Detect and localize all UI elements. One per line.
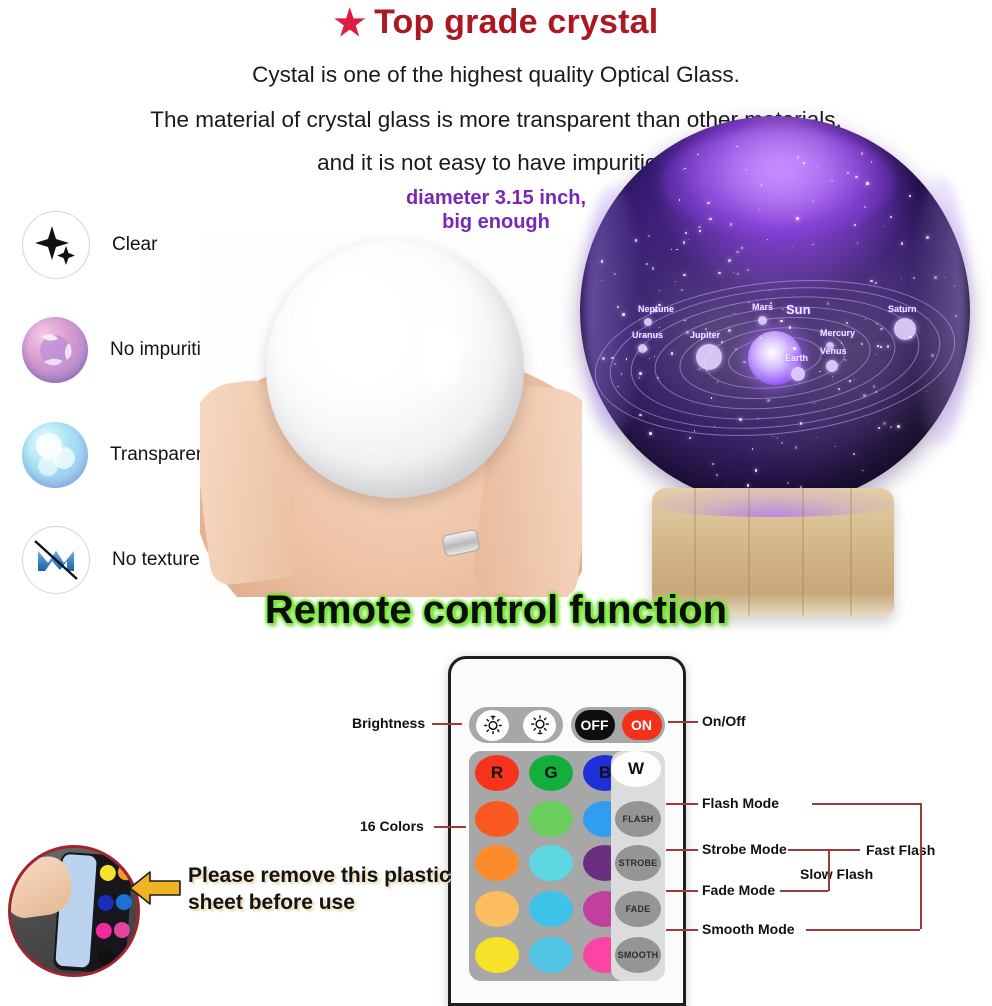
- star-speck: [797, 156, 799, 158]
- bracket-fast-bottom: [806, 929, 920, 931]
- star-speck: [688, 239, 689, 240]
- star-speck: [649, 432, 652, 435]
- star-speck: [676, 249, 678, 251]
- ball-highlight: [296, 258, 424, 402]
- star-speck: [711, 397, 712, 398]
- star-speck: [712, 463, 714, 465]
- on-button[interactable]: ON: [622, 710, 662, 740]
- purity-orb-icon: [22, 317, 88, 383]
- mode-button-smooth[interactable]: SMOOTH: [615, 937, 661, 973]
- plastic-warning-text: Please remove this plastic sheet before …: [188, 862, 488, 916]
- star-speck: [873, 385, 876, 388]
- callout-leader: [666, 890, 698, 892]
- star-speck: [857, 242, 858, 243]
- star-speck: [698, 226, 701, 229]
- star-speck: [772, 436, 773, 437]
- callout-leader: [668, 721, 698, 723]
- page-title-text: Top grade crystal: [374, 3, 658, 41]
- star-speck: [767, 399, 769, 401]
- star-speck: [671, 352, 673, 354]
- photo-color-dot: [97, 894, 114, 911]
- planet-label-earth: Earth: [785, 353, 808, 363]
- star-speck: [736, 251, 738, 253]
- star-speck: [855, 176, 857, 178]
- star-speck: [755, 469, 758, 472]
- headline-line-1: Cystal is one of the highest quality Opt…: [0, 62, 992, 88]
- color-swatch[interactable]: [529, 801, 573, 837]
- star-speck: [883, 422, 886, 425]
- ball-top-glow: [662, 128, 894, 236]
- planet-label-venus: Venus: [820, 346, 847, 356]
- callout-brightness: Brightness: [352, 715, 425, 731]
- star-speck: [748, 302, 750, 304]
- star-speck: [622, 313, 625, 316]
- star-speck: [926, 236, 928, 238]
- star-speck: [728, 259, 731, 262]
- callout-16-colors: 16 Colors: [360, 818, 424, 834]
- star-speck: [705, 328, 707, 330]
- off-button[interactable]: OFF: [575, 710, 615, 740]
- star-speck: [901, 242, 904, 245]
- base-led-glow: [652, 488, 894, 517]
- star-speck: [777, 437, 778, 438]
- star-speck: [800, 422, 802, 424]
- star-speck: [752, 448, 753, 449]
- star-speck: [803, 162, 804, 163]
- star-speck: [870, 280, 873, 283]
- color-pad: RGB: [469, 751, 631, 981]
- star-speck: [683, 274, 686, 277]
- star-speck: [718, 272, 720, 274]
- planet-dot: [644, 318, 652, 326]
- star-speck: [897, 425, 900, 428]
- callout-leader: [434, 826, 466, 828]
- brightness-pad: [469, 707, 563, 743]
- star-speck: [714, 426, 715, 427]
- star-speck: [827, 302, 830, 305]
- callout-flash-mode: Flash Mode: [702, 795, 779, 811]
- star-speck: [909, 195, 911, 197]
- color-button-g[interactable]: G: [529, 755, 573, 791]
- star-speck: [835, 446, 836, 447]
- star-speck: [767, 239, 768, 240]
- star-speck: [685, 232, 687, 234]
- mode-button-strobe[interactable]: STROBE: [615, 845, 661, 881]
- star-speck: [796, 217, 798, 219]
- bracket-fast-vert: [920, 803, 922, 929]
- star-speck: [611, 357, 613, 359]
- color-swatch[interactable]: [475, 937, 519, 973]
- star-speck: [675, 281, 676, 282]
- star-speck: [865, 319, 866, 320]
- mode-button-flash[interactable]: FLASH: [615, 801, 661, 837]
- star-speck: [617, 386, 618, 387]
- callout-leader: [666, 929, 698, 931]
- star-speck: [704, 359, 706, 361]
- star-speck: [747, 484, 749, 486]
- color-swatch[interactable]: [529, 937, 573, 973]
- star-speck: [795, 446, 797, 448]
- star-speck: [812, 244, 814, 246]
- color-swatch[interactable]: [529, 891, 573, 927]
- star-speck: [716, 474, 718, 476]
- star-speck: [880, 346, 882, 348]
- star-speck: [780, 320, 783, 323]
- star-speck: [861, 152, 864, 155]
- star-speck: [770, 302, 771, 303]
- star-speck: [736, 146, 738, 148]
- star-speck: [659, 290, 660, 291]
- star-speck: [890, 216, 892, 218]
- star-speck: [854, 224, 856, 226]
- callout-slow-flash: Slow Flash: [800, 866, 873, 882]
- star-speck: [734, 313, 736, 315]
- star-speck: [954, 285, 956, 287]
- star-speck: [862, 470, 864, 472]
- star-speck: [766, 298, 767, 299]
- star-speck: [853, 453, 855, 455]
- color-swatch[interactable]: [529, 845, 573, 881]
- plastic-sheet-photo: [8, 845, 140, 977]
- brightness-down-icon[interactable]: [523, 710, 556, 741]
- star-speck: [789, 326, 791, 328]
- star-speck: [931, 354, 934, 357]
- star-speck: [683, 241, 686, 244]
- star-speck: [901, 278, 902, 279]
- callout-leader: [666, 803, 698, 805]
- photo-color-dot: [95, 922, 112, 939]
- bracket-slow-top: [788, 849, 860, 851]
- planet-dot: [791, 367, 805, 381]
- planet-dot: [894, 318, 916, 340]
- star-speck: [792, 246, 793, 247]
- planet-label-jupiter: Jupiter: [690, 330, 720, 340]
- star-speck: [913, 277, 915, 279]
- star-speck: [699, 230, 701, 232]
- callout-fast-flash: Fast Flash: [866, 842, 935, 858]
- star-speck: [887, 345, 889, 347]
- power-pad: OFF ON: [571, 707, 665, 743]
- solar-system-crystal-ball: NeptuneUranusJupiterMarsSunMercuryVenusE…: [556, 106, 986, 636]
- star-speck: [645, 348, 648, 351]
- engraved-crystal-ball: NeptuneUranusJupiterMarsSunMercuryVenusE…: [580, 116, 970, 506]
- star-speck: [733, 272, 734, 273]
- callout-leader: [432, 723, 462, 725]
- star-speck: [866, 182, 868, 184]
- color-swatch[interactable]: [475, 801, 519, 837]
- star-speck: [697, 154, 698, 155]
- feature-label: Transparent: [110, 444, 212, 466]
- star-icon: ★: [334, 2, 366, 43]
- clear-crystal-ball: [266, 240, 524, 498]
- callout-on-off: On/Off: [702, 713, 746, 729]
- star-speck: [730, 223, 733, 226]
- star-speck: [652, 267, 655, 270]
- feature-label: No texture: [112, 549, 200, 571]
- callout-smooth-mode: Smooth Mode: [702, 921, 795, 937]
- photo-color-dot: [97, 948, 114, 965]
- no-texture-icon: [22, 526, 90, 594]
- planet-label-mercury: Mercury: [820, 328, 855, 338]
- callout-strobe-mode: Strobe Mode: [702, 841, 787, 857]
- planet-label-uranus: Uranus: [632, 330, 663, 340]
- star-speck: [745, 169, 747, 171]
- sparkle-icon: [22, 211, 90, 279]
- star-speck: [880, 328, 882, 330]
- star-speck: [787, 482, 789, 484]
- star-speck: [739, 418, 742, 421]
- star-speck: [686, 331, 689, 334]
- star-speck: [875, 282, 877, 284]
- star-speck: [689, 437, 691, 439]
- star-speck: [864, 206, 866, 208]
- star-speck: [878, 427, 880, 429]
- star-speck: [725, 486, 726, 487]
- color-button-r[interactable]: R: [475, 755, 519, 791]
- star-speck: [743, 361, 745, 363]
- callout-fade-mode: Fade Mode: [702, 882, 775, 898]
- planet-dot: [696, 344, 722, 370]
- planet-dot: [826, 360, 838, 372]
- page-title: ★Top grade crystal: [0, 2, 992, 44]
- bracket-fast-top: [812, 803, 922, 805]
- remote-control-banner: Remote control function: [0, 588, 992, 633]
- feature-label: Clear: [112, 234, 157, 256]
- star-speck: [877, 345, 879, 347]
- star-speck: [648, 235, 650, 237]
- star-speck: [646, 263, 647, 264]
- photo-color-dot: [99, 864, 116, 881]
- mode-button-fade[interactable]: FADE: [615, 891, 661, 927]
- color-button-w[interactable]: W: [611, 751, 661, 787]
- left-arrow-icon: [128, 866, 182, 910]
- star-speck: [902, 311, 904, 313]
- star-speck: [890, 426, 893, 429]
- star-speck: [883, 226, 884, 227]
- remote-control: OFF ON RGB W FLASHSTROBEFADESMOOTH: [448, 656, 686, 1006]
- star-speck: [617, 306, 619, 308]
- bracket-slow-vert: [828, 849, 830, 891]
- star-speck: [671, 249, 672, 250]
- star-speck: [747, 269, 749, 271]
- star-speck: [684, 168, 685, 169]
- ball-highlight-small: [416, 318, 462, 392]
- star-speck: [602, 357, 605, 360]
- brightness-up-icon[interactable]: [476, 710, 509, 741]
- callout-leader: [666, 849, 698, 851]
- bracket-slow-bottom: [780, 890, 828, 892]
- star-speck: [813, 200, 814, 201]
- transparent-orb-icon: [22, 422, 88, 488]
- star-speck: [694, 430, 695, 431]
- planet-label-sun: Sun: [786, 302, 811, 317]
- star-speck: [816, 437, 818, 439]
- star-speck: [737, 273, 739, 275]
- star-speck: [681, 289, 683, 291]
- star-speck: [781, 442, 783, 444]
- planet-dot: [758, 316, 767, 325]
- star-speck: [875, 391, 877, 393]
- hand-holding-crystal-ball: [200, 232, 582, 597]
- star-speck: [741, 247, 743, 249]
